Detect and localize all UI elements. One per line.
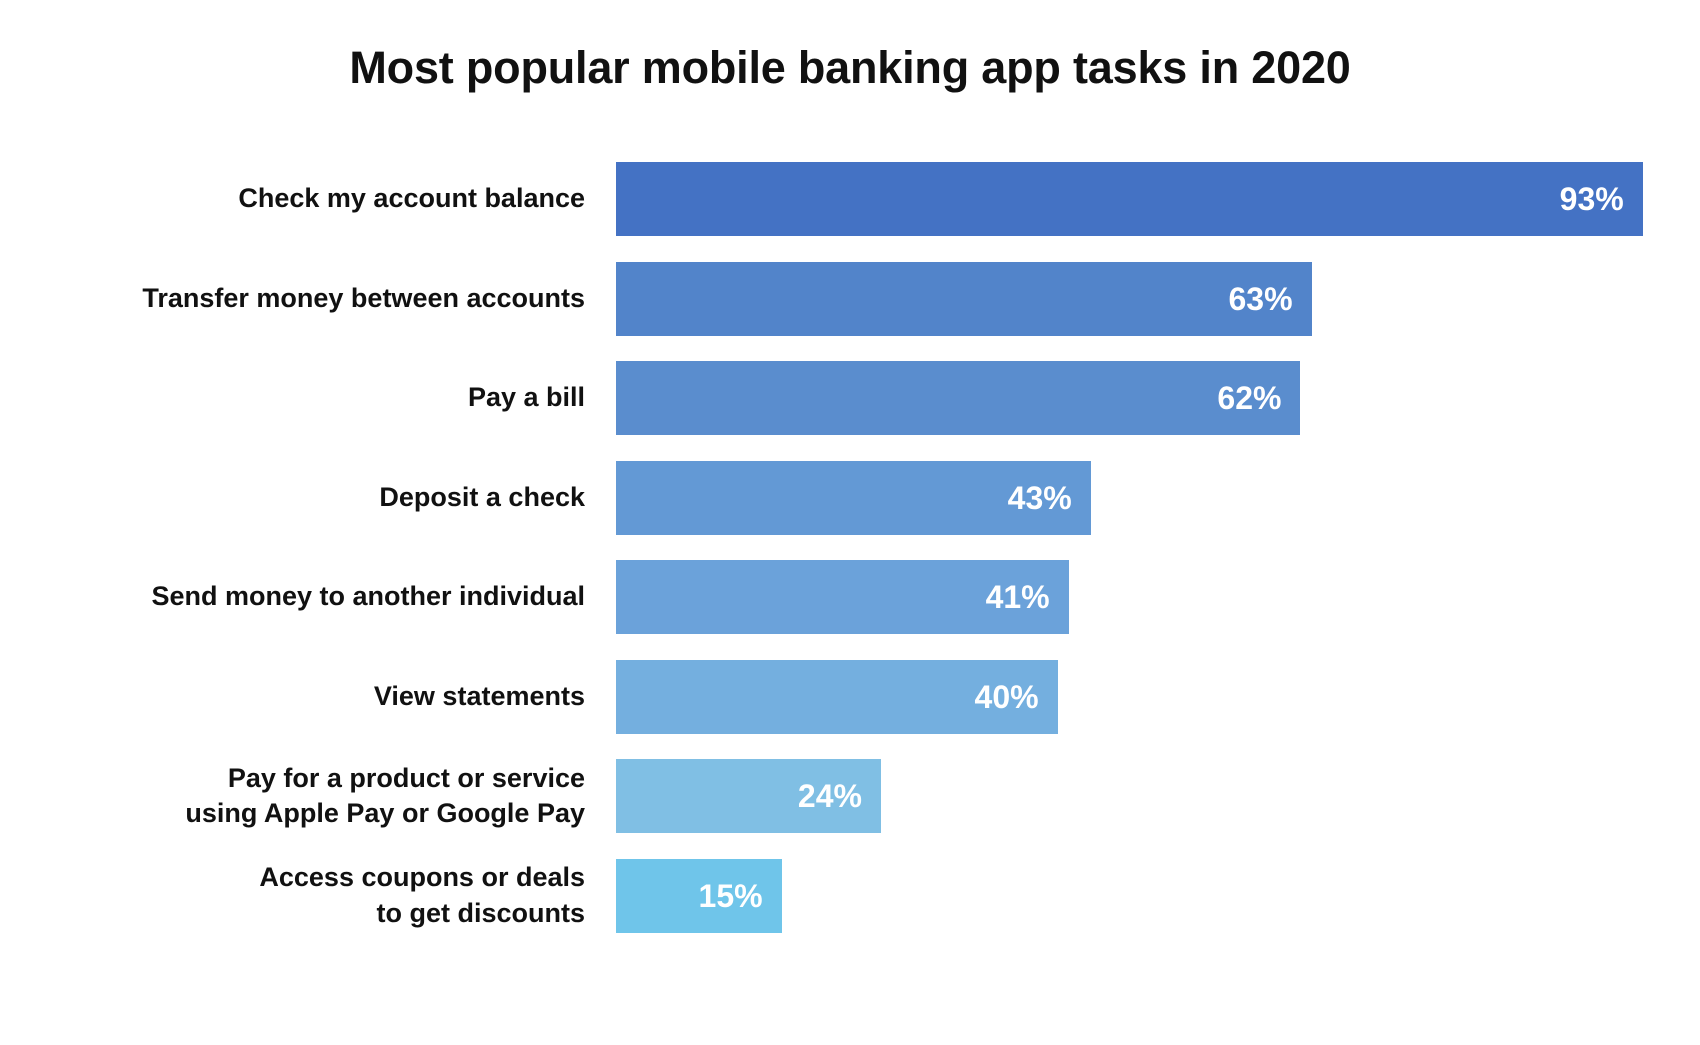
category-label: Transfer money between accounts [25,281,585,316]
bar-row: View statements40% [0,660,1700,734]
bar[interactable]: 62% [616,361,1300,435]
bar-track: 43% [616,461,1091,535]
category-label: Deposit a check [25,480,585,515]
bar[interactable]: 43% [616,461,1091,535]
category-label: Pay a bill [25,380,585,415]
bar[interactable]: 24% [616,759,881,833]
bar-row: Deposit a check43% [0,461,1700,535]
bar-track: 24% [616,759,881,833]
bar[interactable]: 93% [616,162,1643,236]
bar-row: Access coupons or deals to get discounts… [0,859,1700,933]
bar[interactable]: 40% [616,660,1058,734]
bar-track: 63% [616,262,1312,336]
bar-row: Check my account balance93% [0,162,1700,236]
bar-value-label: 15% [699,880,763,912]
bar-row: Send money to another individual41% [0,560,1700,634]
bar-track: 40% [616,660,1058,734]
bar-value-label: 63% [1228,283,1292,315]
category-label: View statements [25,679,585,714]
bar[interactable]: 15% [616,859,782,933]
chart-title: Most popular mobile banking app tasks in… [0,42,1700,94]
category-label: Access coupons or deals to get discounts [25,860,585,930]
bar-chart: Most popular mobile banking app tasks in… [0,0,1700,1045]
bar-row: Pay for a product or service using Apple… [0,759,1700,833]
bar-value-label: 24% [798,780,862,812]
bar[interactable]: 63% [616,262,1312,336]
bar[interactable]: 41% [616,560,1069,634]
bar-value-label: 93% [1560,183,1624,215]
bar-value-label: 40% [975,681,1039,713]
bar-track: 15% [616,859,782,933]
bar-row: Pay a bill62% [0,361,1700,435]
bar-row: Transfer money between accounts63% [0,262,1700,336]
category-label: Check my account balance [25,181,585,216]
category-label: Send money to another individual [25,579,585,614]
category-label: Pay for a product or service using Apple… [25,761,585,831]
bar-track: 62% [616,361,1300,435]
plot-area: Check my account balance93%Transfer mone… [0,162,1700,962]
bar-track: 41% [616,560,1069,634]
bar-value-label: 41% [986,581,1050,613]
bar-track: 93% [616,162,1643,236]
bar-value-label: 43% [1008,482,1072,514]
bar-value-label: 62% [1217,382,1281,414]
